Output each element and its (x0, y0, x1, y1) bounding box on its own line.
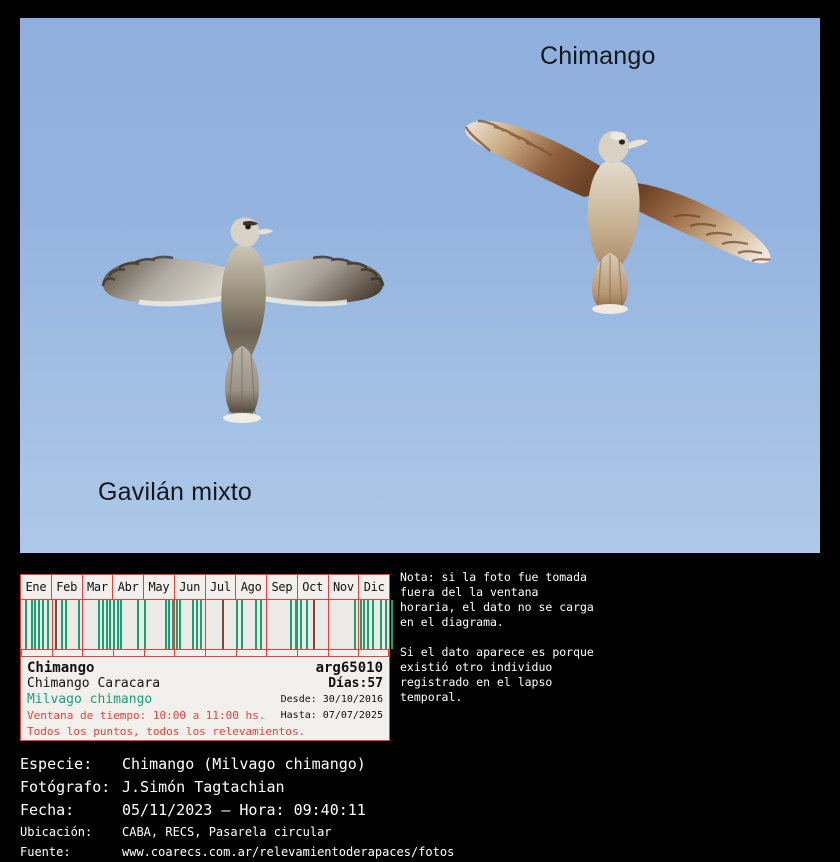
chart-tick (297, 650, 298, 656)
info-row-scientific: Milvago chimango Desde: 30/10/2016 (27, 692, 383, 708)
time-window-text: Ventana de tiempo: 10:00 a 11:00 hs. (27, 708, 265, 724)
chart-bar-green (168, 600, 170, 649)
chart-bar-green (25, 600, 27, 649)
info-row-allpoints: Todos los puntos, todos los relevamiento… (27, 724, 383, 740)
month-cell-dic[interactable]: Dic (359, 575, 389, 599)
date-from: Desde: 30/10/2016 (281, 692, 383, 708)
chart-bar-green (31, 600, 33, 649)
chart-bar-green (65, 600, 67, 649)
chart-bar-green (295, 600, 297, 649)
chart-bar-green (42, 600, 44, 649)
chart-tick (328, 650, 329, 656)
month-cell-sep[interactable]: Sep (267, 575, 298, 599)
date-to: Hasta: 07/07/2025 (281, 708, 383, 724)
chart-bar-green (38, 600, 40, 649)
meta-key: Fotógrafo: (20, 776, 110, 799)
species-english-name: Chimango Caracara (27, 676, 160, 692)
chart-bar-green (117, 600, 119, 649)
all-points-text: Todos los puntos, todos los relevamiento… (27, 724, 305, 740)
chart-bar-green (98, 600, 100, 649)
bird-chimango-illustration (460, 113, 780, 323)
chart-gridline (266, 600, 267, 649)
days-count: Días:57 (328, 676, 383, 692)
meta-row: Ubicación:CABA, RECS, Pasarela circular (20, 822, 820, 842)
month-cell-ago[interactable]: Ago (236, 575, 267, 599)
photo-label-chimango: Chimango (540, 42, 656, 71)
meta-value: J.Simón Tagtachian (122, 776, 285, 799)
chart-bar-green (236, 600, 238, 649)
chart-info-block: Chimango arg65010 Chimango Caracara Días… (21, 657, 389, 739)
chart-bar-green (78, 600, 80, 649)
note-paragraph-2: Si el dato aparece es porque existió otr… (400, 645, 600, 705)
month-cell-jul[interactable]: Jul (206, 575, 237, 599)
chart-bar-green (290, 600, 292, 649)
chart-bar-green (176, 600, 178, 649)
chart-bar-brown (313, 600, 315, 649)
chart-bar-green (61, 600, 63, 649)
phenology-chart-panel[interactable]: EneFebMarAbrMayJunJulAgoSepOctNovDic Chi… (20, 574, 390, 741)
meta-value: Chimango (Milvago chimango) (122, 753, 366, 776)
chart-bar-green (354, 600, 356, 649)
chart-tick-row (21, 650, 389, 657)
chart-bar-green (113, 600, 115, 649)
chart-bar-green (120, 600, 122, 649)
month-cell-nov[interactable]: Nov (329, 575, 360, 599)
meta-row: Especie:Chimango (Milvago chimango) (20, 753, 820, 776)
chart-bar-green (367, 600, 369, 649)
info-row-window: Ventana de tiempo: 10:00 a 11:00 hs. Has… (27, 708, 383, 724)
meta-key: Ubicación: (20, 822, 92, 842)
chart-bar-green (102, 600, 104, 649)
bird-gavilan-illustration (95, 218, 395, 433)
chart-tick (52, 650, 53, 656)
chart-bar-green (380, 600, 382, 649)
chart-bar-green (255, 600, 257, 649)
chart-bar-brown (222, 600, 224, 649)
chart-gridline (205, 600, 206, 649)
chart-bar-green (144, 600, 146, 649)
chart-bar-green (165, 600, 167, 649)
chart-bar-green (241, 600, 243, 649)
note-paragraph-1: Nota: si la foto fue tomada fuera del la… (400, 570, 600, 630)
chart-bar-green (372, 600, 374, 649)
chart-bar-green (260, 600, 262, 649)
chart-gridline (52, 600, 53, 649)
chart-tick (205, 650, 206, 656)
chart-gridline (82, 600, 83, 649)
chart-tick (21, 650, 22, 656)
chart-bar-green (137, 600, 139, 649)
bird-photo: Chimango Gavilán mixto (20, 18, 820, 553)
meta-key: Fuente: (20, 842, 71, 862)
note-block: Nota: si la foto fue tomada fuera del la… (400, 570, 600, 705)
meta-row: Fotógrafo:J.Simón Tagtachian (20, 776, 820, 799)
chart-tick (358, 650, 359, 656)
month-cell-may[interactable]: May (144, 575, 175, 599)
chart-tick (144, 650, 145, 656)
meta-key: Fecha: (20, 799, 74, 822)
chart-tick (388, 650, 389, 656)
chart-bar-green (363, 600, 365, 649)
chart-bar-green (179, 600, 181, 649)
photo-label-gavilan-mixto: Gavilán mixto (98, 478, 252, 507)
meta-row: Fecha:05/11/2023 — Hora: 09:40:11 (20, 799, 820, 822)
chart-bar-green (360, 600, 362, 649)
month-cell-abr[interactable]: Abr (113, 575, 144, 599)
chart-tick (82, 650, 83, 656)
meta-row: Fuente:www.coarecs.com.ar/relevamientode… (20, 842, 820, 862)
chart-bar-green (109, 600, 111, 649)
chart-bar-green (306, 600, 308, 649)
species-scientific-name: Milvago chimango (27, 692, 152, 708)
meta-key: Especie: (20, 753, 92, 776)
chart-bar-green (106, 600, 108, 649)
species-code: arg65010 (316, 660, 383, 676)
species-common-name: Chimango (27, 660, 94, 676)
chart-bar-green (196, 600, 198, 649)
chart-bar-green (391, 600, 393, 649)
chart-bar-green (385, 600, 387, 649)
chart-tick (266, 650, 267, 656)
chart-bar-green (34, 600, 36, 649)
month-cell-feb[interactable]: Feb (52, 575, 83, 599)
chart-tick (236, 650, 237, 656)
chart-month-header: EneFebMarAbrMayJunJulAgoSepOctNovDic (21, 575, 389, 600)
chart-bars-area[interactable] (21, 600, 389, 650)
chart-bar-green (200, 600, 202, 649)
month-cell-ene[interactable]: Ene (21, 575, 52, 599)
chart-bar-brown (55, 600, 57, 649)
chart-tick (113, 650, 114, 656)
chart-bar-green (47, 600, 49, 649)
meta-value: CABA, RECS, Pasarela circular (122, 822, 332, 842)
chart-bar-green (192, 600, 194, 649)
month-cell-mar[interactable]: Mar (83, 575, 114, 599)
chart-tick (174, 650, 175, 656)
chart-gridline (328, 600, 329, 649)
month-cell-jun[interactable]: Jun (175, 575, 206, 599)
info-row-common: Chimango arg65010 (27, 660, 383, 676)
photo-metadata: Especie:Chimango (Milvago chimango)Fotóg… (20, 753, 820, 862)
info-row-english: Chimango Caracara Días:57 (27, 676, 383, 692)
chart-bar-green (172, 600, 174, 649)
chart-bar-green (300, 600, 302, 649)
screenshot-root: Chimango Gavilán mixto EneFebMarAbrMayJu… (0, 0, 840, 854)
month-cell-oct[interactable]: Oct (298, 575, 329, 599)
meta-value: 05/11/2023 — Hora: 09:40:11 (122, 799, 366, 822)
meta-value: www.coarecs.com.ar/relevamientoderapaces… (122, 842, 454, 862)
